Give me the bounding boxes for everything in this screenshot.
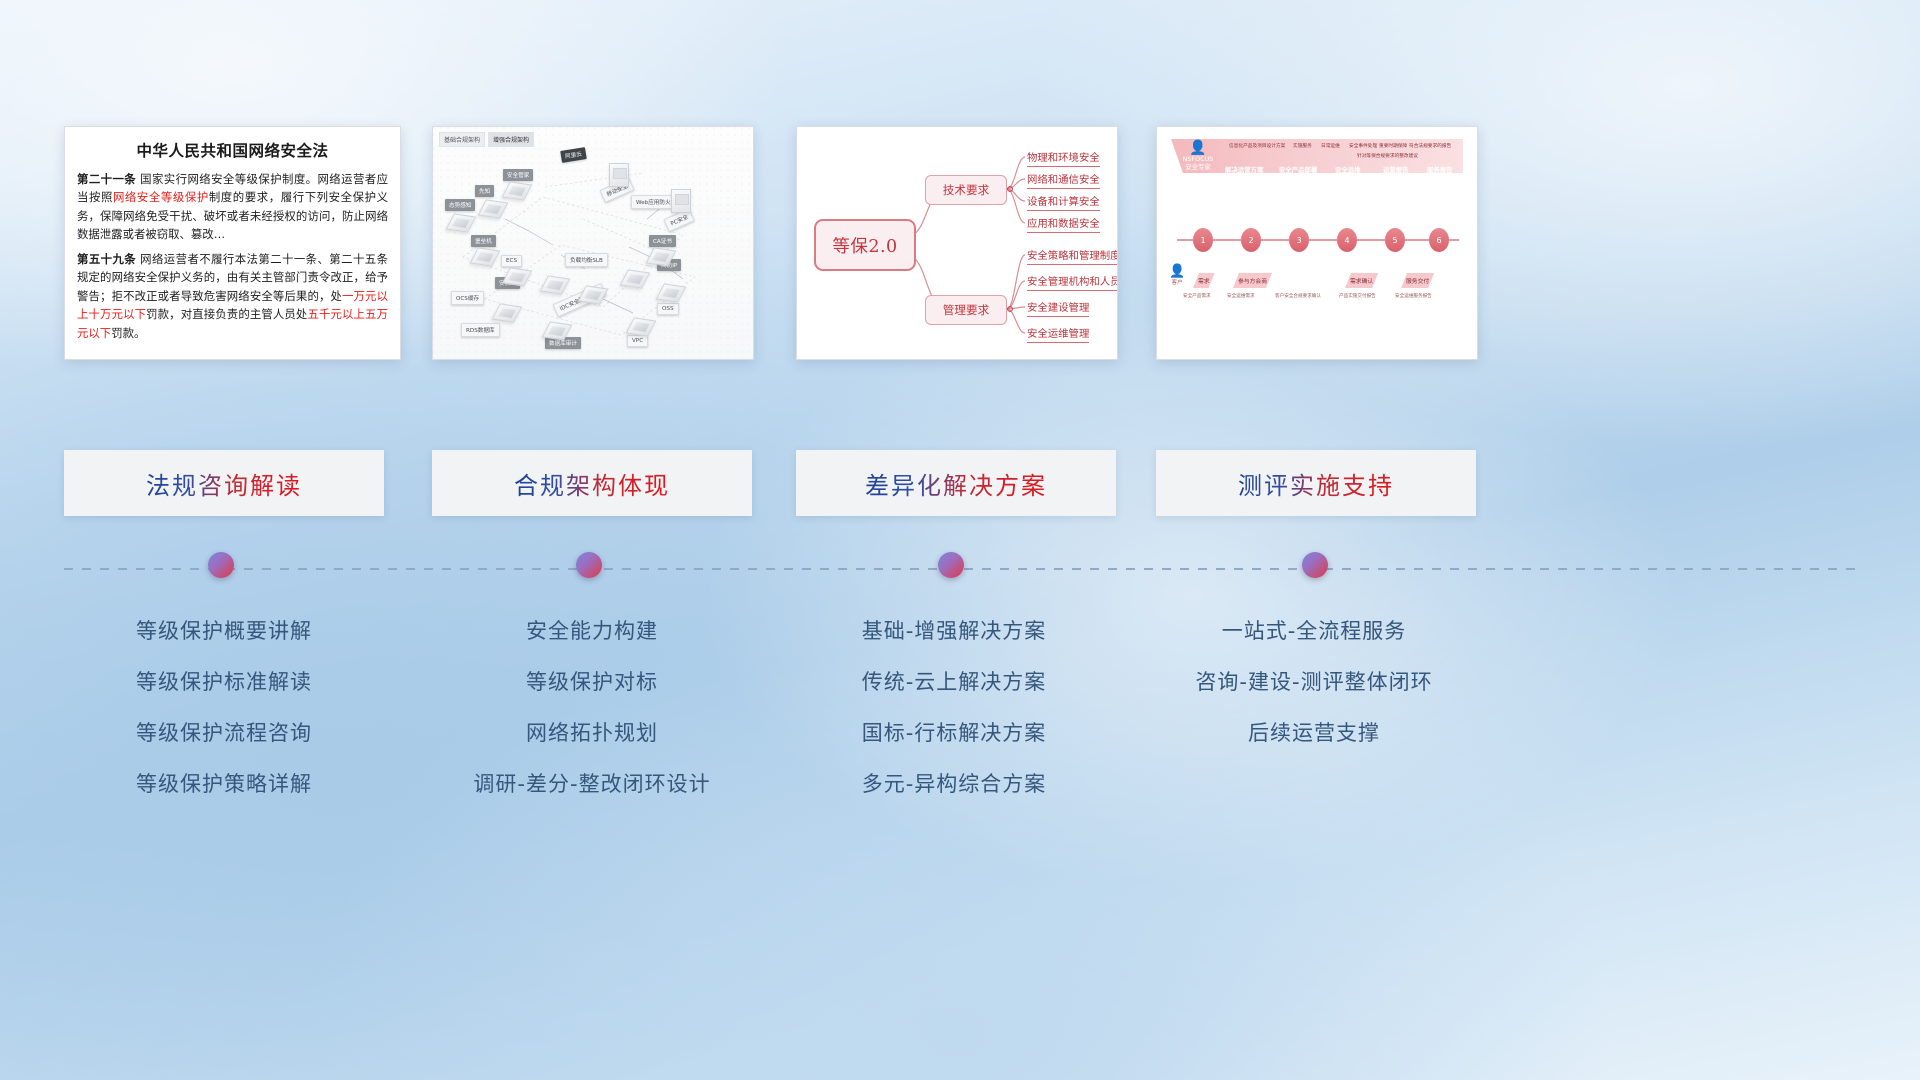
client-person-icon: 👤 <box>1169 265 1185 278</box>
node-bastion-host: 堡垒机 <box>471 235 496 247</box>
tag-joint-meeting: 参与方会商 <box>1233 273 1272 288</box>
banner-label-4: 测评实施支持 <box>1238 466 1394 501</box>
list-column-4: 一站式-全流程服务 咨询-建设-测评整体闭环 后续运营支撑 <box>1134 606 1494 759</box>
list-item: 安全能力构建 <box>412 606 772 657</box>
persona-client-label: 客户 <box>1169 278 1185 286</box>
architecture-canvas: 基础合规架构 增强合规架构 <box>433 127 753 359</box>
node-ocs-cache: OCS缓存 <box>451 291 484 305</box>
nsfocus-logo: 👤 NSFOCUS 安全专家 <box>1175 141 1221 171</box>
law-body: 中华人民共和国网络安全法 第二十一条 国家实行网络安全等级保护制度。网络运营者应… <box>65 127 400 359</box>
top-label-2: 实施服务 <box>1293 143 1312 149</box>
persona-client: 👤 客户 <box>1169 265 1185 286</box>
top-label-7: 针对等保合规要求的整改建议 <box>1357 153 1418 159</box>
mindmap-leaf-tech-2: 网络和通信安全 <box>1027 171 1100 189</box>
list-item: 多元-异构综合方案 <box>774 759 1134 810</box>
sub-label-4: 产品实施交付报告 <box>1339 293 1376 299</box>
node-ecs: ECS <box>501 255 522 267</box>
article-59-number: 第五十九条 <box>77 252 136 266</box>
list-item: 等级保护流程咨询 <box>44 708 404 759</box>
top-label-6: 符合法规要求的报告 <box>1409 143 1451 149</box>
expert-person-icon: 👤 <box>1175 141 1221 155</box>
list-column-2: 安全能力构建 等级保护对标 网络拓扑规划 调研-差分-整改闭环设计 <box>412 606 772 810</box>
law-article-21: 第二十一条 国家实行网络安全等级保护制度。网络运营者应当按照网络安全等级保护制度… <box>77 170 388 244</box>
banner-compliance-architecture[interactable]: 合规架构体现 <box>432 450 752 516</box>
timeline-step-4[interactable]: 4 <box>1337 228 1357 252</box>
card-service-timeline: 👤 NSFOCUS 安全专家 信息化产品及项目设计方案 实施服务 日常运维 安全… <box>1156 126 1478 360</box>
mindmap-leaf-mgmt-3: 安全建设管理 <box>1027 299 1089 317</box>
article-21-number: 第二十一条 <box>77 172 136 186</box>
logo-line-1: NSFOCUS <box>1175 155 1221 163</box>
slide-canvas: 中华人民共和国网络安全法 第二十一条 国家实行网络安全等级保护制度。网络运营者应… <box>0 0 1920 1080</box>
banner-regulation-consulting[interactable]: 法规咨询解读 <box>64 450 384 516</box>
article-59-text-b: 罚款，对直接负责的主管人员处 <box>146 307 307 321</box>
law-title: 中华人民共和国网络安全法 <box>77 139 388 161</box>
mindmap-root-node: 等保2.0 <box>814 219 916 271</box>
timeline-marker-3[interactable] <box>938 552 964 578</box>
timeline-step-2[interactable]: 2 <box>1241 228 1261 252</box>
mindmap-leaf-tech-3: 设备和计算安全 <box>1027 193 1100 211</box>
top-label-1: 信息化产品及项目设计方案 <box>1229 143 1285 149</box>
list-column-1: 等级保护概要讲解 等级保护标准解读 等级保护流程咨询 等级保护策略详解 <box>44 606 404 810</box>
timeline-step-1[interactable]: 1 <box>1193 228 1213 252</box>
law-article-59: 第五十九条 网络运营者不履行本法第二十一条、第二十五条规定的网络安全保护义务的，… <box>77 250 388 342</box>
mindmap-leaf-mgmt-2: 安全管理机构和人员 <box>1027 273 1118 291</box>
list-item: 咨询-建设-测评整体闭环 <box>1134 657 1494 708</box>
node-xianzhi: 先知 <box>475 185 494 197</box>
node-situation-awareness: 态势感知 <box>445 199 475 211</box>
mindmap-leaf-mgmt-1: 安全策略和管理制度 <box>1027 247 1118 265</box>
sub-label-1: 安全产品需求 <box>1183 293 1211 299</box>
caption-5: 服务报告 <box>1427 165 1453 174</box>
sub-label-3: 客户安全合规要求确认 <box>1275 293 1321 299</box>
card-law-text: 中华人民共和国网络安全法 第二十一条 国家实行网络安全等级保护制度。网络运营者应… <box>64 126 401 360</box>
timeline-step-5[interactable]: 5 <box>1385 228 1405 252</box>
list-item: 等级保护概要讲解 <box>44 606 404 657</box>
mindmap-leaf-mgmt-4: 安全运维管理 <box>1027 325 1089 343</box>
article-59-text-c: 罚款。 <box>111 326 145 340</box>
banner-assessment-support[interactable]: 测评实施支持 <box>1156 450 1476 516</box>
mindmap-leaf-tech-1: 物理和环境安全 <box>1027 149 1100 167</box>
node-oss: OSS <box>657 303 679 315</box>
mindmap-branch-management: 管理要求 <box>925 295 1007 325</box>
node-ca-certificate: CA证书 <box>649 235 676 247</box>
list-item: 一站式-全流程服务 <box>1134 606 1494 657</box>
list-item: 国标-行标解决方案 <box>774 708 1134 759</box>
node-rds-database: RDS数据库 <box>461 323 500 337</box>
server-icon-mobile <box>609 163 629 187</box>
timeline-step-6[interactable]: 6 <box>1429 228 1449 252</box>
banner-differentiated-solution[interactable]: 差异化解决方案 <box>796 450 1116 516</box>
timeline-marker-4[interactable] <box>1302 552 1328 578</box>
node-slb: 负载均衡SLB <box>565 253 608 267</box>
list-item: 基础-增强解决方案 <box>774 606 1134 657</box>
mind-map-canvas: 等保2.0 技术要求 管理要求 物理和环境安全 网络和通信安全 设备和计算安全 … <box>797 127 1117 359</box>
top-label-4: 安全事件处理 <box>1349 143 1377 149</box>
banner-label-2: 合规架构体现 <box>514 466 670 501</box>
sub-label-5: 安全运维服务报告 <box>1395 293 1432 299</box>
top-label-3: 日常运维 <box>1321 143 1340 149</box>
mindmap-branch-technical: 技术要求 <box>925 175 1007 205</box>
logo-line-2: 安全专家 <box>1175 163 1221 171</box>
caption-3: 安全运维 <box>1335 165 1361 174</box>
list-item: 网络拓扑规划 <box>412 708 772 759</box>
banner-label-1: 法规咨询解读 <box>146 466 302 501</box>
tag-service-delivery: 服务交付 <box>1401 273 1434 288</box>
list-item: 调研-差分-整改闭环设计 <box>412 759 772 810</box>
tag-requirement: 需求 <box>1193 273 1215 288</box>
timeline-canvas: 👤 NSFOCUS 安全专家 信息化产品及项目设计方案 实施服务 日常运维 安全… <box>1157 127 1477 359</box>
timeline-marker-2[interactable] <box>576 552 602 578</box>
server-icon-pc <box>671 189 691 213</box>
timeline-axis <box>1177 239 1459 241</box>
node-vpc: VPC <box>627 335 648 347</box>
sub-label-2: 安全运维需求 <box>1227 293 1255 299</box>
timeline-step-3[interactable]: 3 <box>1289 228 1309 252</box>
top-label-5: 重要时期保障 <box>1379 143 1407 149</box>
node-security-butler: 安全管家 <box>503 169 533 181</box>
list-item: 等级保护对标 <box>412 657 772 708</box>
mindmap-leaf-tech-4: 应用和数据安全 <box>1027 215 1100 233</box>
caption-4: 运营报告 <box>1383 165 1409 174</box>
list-item: 等级保护标准解读 <box>44 657 404 708</box>
timeline-marker-1[interactable] <box>208 552 234 578</box>
list-item: 后续运营支撑 <box>1134 708 1494 759</box>
caption-1: 解决运营方案 <box>1225 165 1263 174</box>
article-21-highlight: 网络安全等级保护 <box>113 190 209 204</box>
tag-requirement-confirm: 需求确认 <box>1345 273 1378 288</box>
list-column-3: 基础-增强解决方案 传统-云上解决方案 国标-行标解决方案 多元-异构综合方案 <box>774 606 1134 810</box>
card-mind-map: 等保2.0 技术要求 管理要求 物理和环境安全 网络和通信安全 设备和计算安全 … <box>796 126 1118 360</box>
card-architecture-diagram: 基础合规架构 增强合规架构 <box>432 126 754 360</box>
list-item: 传统-云上解决方案 <box>774 657 1134 708</box>
banner-label-3: 差异化解决方案 <box>865 466 1047 501</box>
list-item: 等级保护策略详解 <box>44 759 404 810</box>
caption-2: 安全产品部署 <box>1279 165 1317 174</box>
